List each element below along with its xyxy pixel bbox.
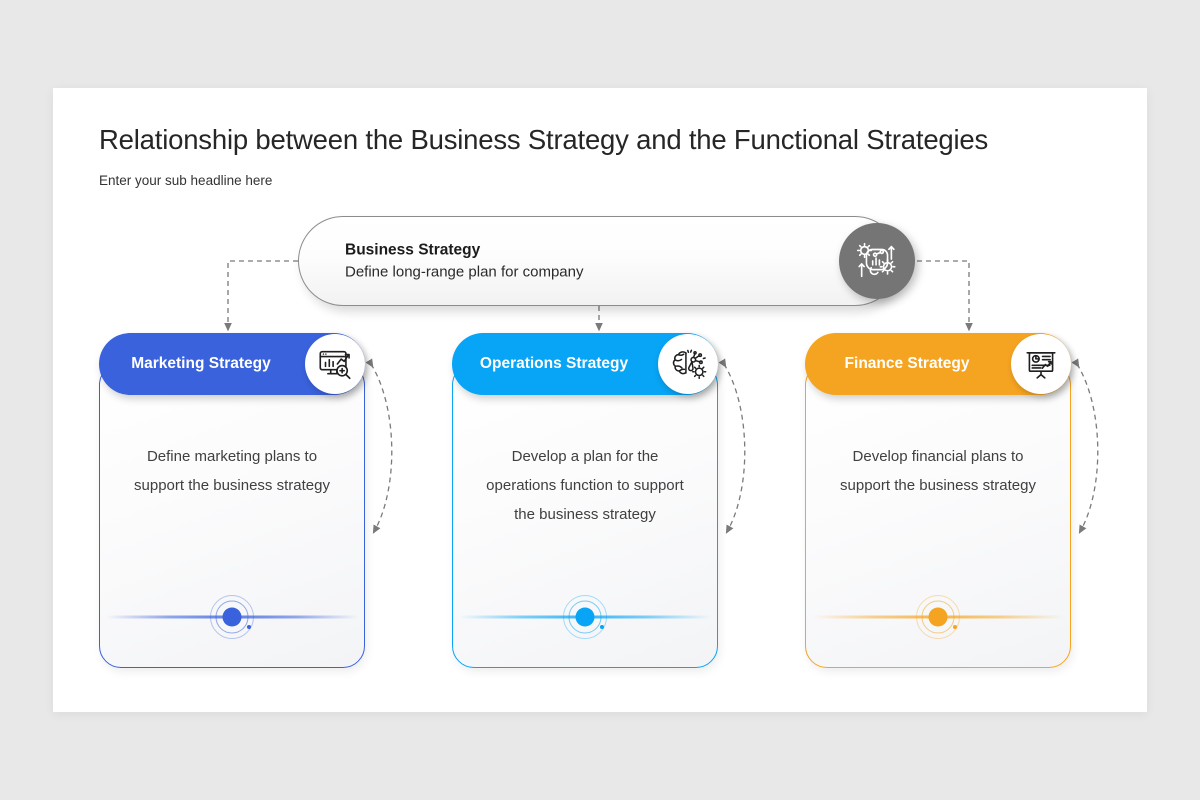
card-body: Develop a plan for the operations functi… [452,363,718,668]
strategy-brain-gears-icon [839,223,915,299]
card-body: Define marketing plans to support the bu… [99,363,365,668]
card-title: Operations Strategy [452,355,656,373]
connector-two-way-finance [1077,364,1098,530]
card-decoration-node [806,591,1070,643]
business-strategy-description: Define long-range plan for company [345,262,583,284]
slide-canvas: Relationship between the Business Strate… [53,88,1147,712]
connector-business-to-marketing [228,261,298,327]
card-title: Finance Strategy [805,355,1009,373]
card-marketing-strategy[interactable]: Define marketing plans to support the bu… [99,333,365,668]
card-body: Develop financial plans to support the b… [805,363,1071,668]
card-decoration-node [100,591,364,643]
page-title: Relationship between the Business Strate… [99,124,988,156]
business-strategy-text: Business Strategy Define long-range plan… [345,239,583,284]
card-operations-strategy[interactable]: Develop a plan for the operations functi… [452,333,718,668]
card-decoration-node [453,591,717,643]
business-strategy-title: Business Strategy [345,239,583,262]
connector-two-way-marketing [371,364,392,530]
card-description: Develop financial plans to support the b… [830,442,1046,500]
monitor-chart-search-icon [305,334,365,394]
card-header[interactable]: Marketing Strategy [99,333,365,395]
card-description: Develop a plan for the operations functi… [477,442,693,529]
card-finance-strategy[interactable]: Develop financial plans to support the b… [805,333,1071,668]
connector-two-way-operations [724,364,745,530]
page-subtitle: Enter your sub headline here [99,173,272,188]
card-title: Marketing Strategy [99,355,303,373]
presentation-board-chart-icon [1011,334,1071,394]
card-description: Define marketing plans to support the bu… [124,442,340,500]
business-strategy-bar[interactable]: Business Strategy Define long-range plan… [298,216,900,306]
brain-network-gear-icon [658,334,718,394]
card-header[interactable]: Finance Strategy [805,333,1071,395]
card-header[interactable]: Operations Strategy [452,333,718,395]
